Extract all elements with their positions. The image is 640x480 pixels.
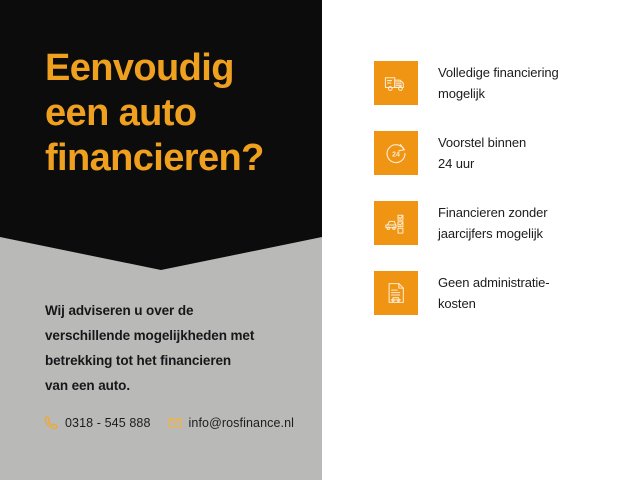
24-hour-clock-icon: 24 (374, 131, 418, 175)
page-title: Eenvoudig een auto financieren? (45, 46, 315, 180)
car-checklist-icon (374, 201, 418, 245)
feature-item-voorstel-binnen-24-uur: 24 Voorstel binnen 24 uur (374, 118, 634, 188)
description-text: Wij adviseren u over de verschillende mo… (45, 298, 307, 398)
right-panel: Volledige financiering mogelijk 24 Voors… (322, 0, 640, 480)
description-line-4: van een auto. (45, 373, 307, 398)
feature-label-line-2: 24 uur (438, 153, 628, 174)
contact-row: 0318 - 545 888 info@rosfinance.nl (44, 416, 294, 430)
envelope-icon (168, 416, 182, 430)
headline-line-2: een auto (45, 91, 315, 136)
feature-label: Voorstel binnen 24 uur (438, 132, 628, 174)
email-contact[interactable]: info@rosfinance.nl (168, 416, 295, 430)
feature-label: Geen administratie- kosten (438, 272, 628, 314)
phone-icon (44, 416, 58, 430)
description-line-2: verschillende mogelijkheden met (45, 323, 307, 348)
24-icon-text: 24 (392, 151, 400, 158)
phone-contact[interactable]: 0318 - 545 888 (44, 416, 151, 430)
feature-label-line-2: jaarcijfers mogelijk (438, 223, 628, 244)
feature-label-line-1: Financieren zonder (438, 202, 628, 223)
feature-label-line-2: kosten (438, 293, 628, 314)
feature-label: Financieren zonder jaarcijfers mogelijk (438, 202, 628, 244)
headline-line-1: Eenvoudig (45, 46, 315, 91)
feature-item-financieren-zonder-jaarcijfers: Financieren zonder jaarcijfers mogelijk (374, 188, 634, 258)
advertisement-banner: Eenvoudig een auto financieren? Wij advi… (0, 0, 640, 480)
feature-label-line-1: Voorstel binnen (438, 132, 628, 153)
feature-label-line-2: mogelijk (438, 83, 628, 104)
feature-label-line-1: Volledige financiering (438, 62, 628, 83)
headline-line-3: financieren? (45, 136, 315, 181)
email-address: info@rosfinance.nl (189, 416, 295, 430)
feature-label: Volledige financiering mogelijk (438, 62, 628, 104)
description-line-1: Wij adviseren u over de (45, 298, 307, 323)
feature-list: Volledige financiering mogelijk 24 Voors… (374, 48, 634, 328)
description-line-3: betrekking tot het financieren (45, 348, 307, 373)
feature-item-volledige-financiering: Volledige financiering mogelijk (374, 48, 634, 118)
feature-item-geen-administratiekosten: Geen administratie- kosten (374, 258, 634, 328)
delivery-truck-icon (374, 61, 418, 105)
left-panel: Eenvoudig een auto financieren? Wij advi… (0, 0, 322, 480)
document-car-icon (374, 271, 418, 315)
feature-label-line-1: Geen administratie- (438, 272, 628, 293)
phone-number: 0318 - 545 888 (65, 416, 151, 430)
